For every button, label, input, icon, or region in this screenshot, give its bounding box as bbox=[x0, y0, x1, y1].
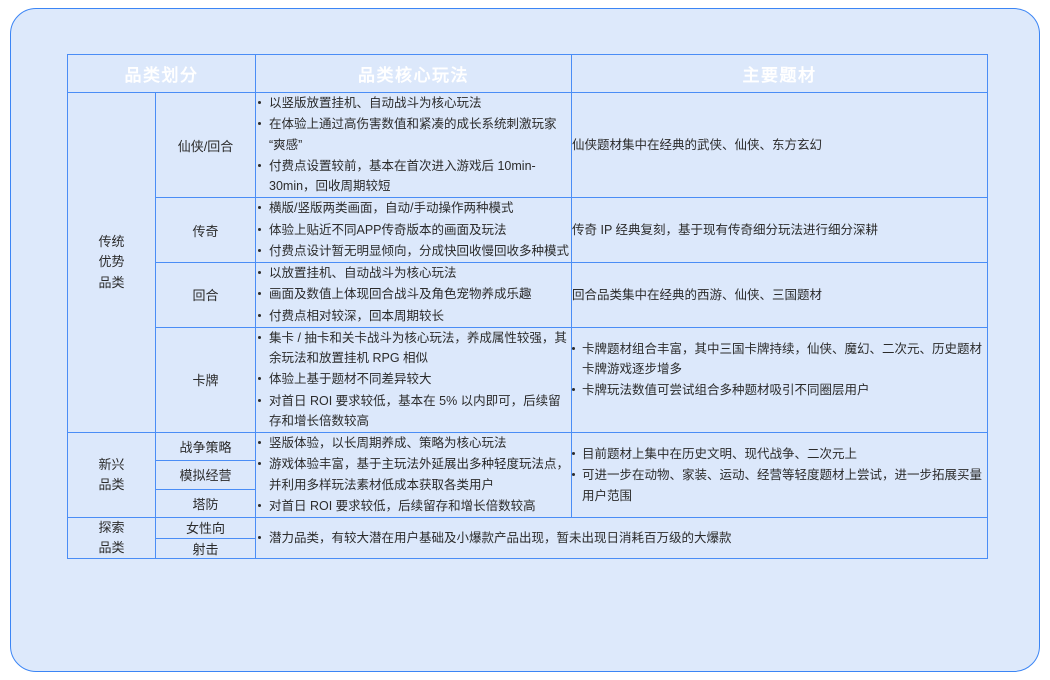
list-item: 卡牌题材组合丰富，其中三国卡牌持续，仙侠、魔幻、二次元、历史题材卡牌游戏逐步增多 bbox=[572, 339, 987, 380]
gameplay-bullet-list: 以竖版放置挂机、自动战斗为核心玩法 在体验上通过高伤害数值和紧凑的成长系统刺激玩… bbox=[256, 93, 571, 196]
list-item: 横版/竖版两类画面，自动/手动操作两种模式 bbox=[256, 198, 571, 218]
list-item: 以竖版放置挂机、自动战斗为核心玩法 bbox=[256, 93, 571, 113]
theme-text: 回合品类集中在经典的西游、仙侠、三国题材 bbox=[572, 285, 987, 305]
list-item: 目前题材上集中在历史文明、现代战争、二次元上 bbox=[572, 444, 987, 464]
page-frame: 品类划分 品类核心玩法 主要题材 传统 优势 品类 仙侠/回合 bbox=[10, 8, 1040, 672]
gameplay-cell-xianxia-huihe: 以竖版放置挂机、自动战斗为核心玩法 在体验上通过高伤害数值和紧凑的成长系统刺激玩… bbox=[256, 93, 572, 198]
table-row: 新兴 品类 战争策略 竖版体验，以长周期养成、策略为核心玩法 游戏体验丰富，基于… bbox=[68, 433, 988, 461]
group-label-exploration: 探索 品类 bbox=[68, 518, 156, 559]
sub-category-huihe: 回合 bbox=[156, 263, 256, 328]
combined-bullet-list: 潜力品类，有较大潜在用户基础及小爆款产品出现，暂未出现日消耗百万级的大爆款 bbox=[256, 528, 987, 548]
gameplay-bullet-list: 横版/竖版两类画面，自动/手动操作两种模式 体验上贴近不同APP传奇版本的画面及… bbox=[256, 198, 571, 261]
table-row: 回合 以放置挂机、自动战斗为核心玩法 画面及数值上体现回合战斗及角色宠物养成乐趣… bbox=[68, 263, 988, 328]
gameplay-bullet-list: 集卡 / 抽卡和关卡战斗为核心玩法，养成属性较强，其余玩法和放置挂机 RPG 相… bbox=[256, 328, 571, 431]
sub-category-xianxia-huihe: 仙侠/回合 bbox=[156, 93, 256, 198]
sub-category-tower-defense: 塔防 bbox=[156, 489, 256, 517]
group-label-line: 品类 bbox=[68, 273, 155, 293]
table-row: 卡牌 集卡 / 抽卡和关卡战斗为核心玩法，养成属性较强，其余玩法和放置挂机 RP… bbox=[68, 327, 988, 432]
group-label-line: 传统 bbox=[68, 232, 155, 252]
table-row: 传统 优势 品类 仙侠/回合 以竖版放置挂机、自动战斗为核心玩法 在体验上通过高… bbox=[68, 93, 988, 198]
theme-text: 传奇 IP 经典复刻，基于现有传奇细分玩法进行细分深耕 bbox=[572, 220, 987, 240]
list-item: 体验上贴近不同APP传奇版本的画面及玩法 bbox=[256, 220, 571, 240]
sub-category-chuanqi: 传奇 bbox=[156, 198, 256, 263]
category-matrix-table-wrapper: 品类划分 品类核心玩法 主要题材 传统 优势 品类 仙侠/回合 bbox=[67, 54, 987, 639]
list-item: 竖版体验，以长周期养成、策略为核心玩法 bbox=[256, 433, 571, 453]
group-label-line: 探索 bbox=[68, 518, 155, 538]
header-category-split: 品类划分 bbox=[68, 55, 256, 93]
list-item: 集卡 / 抽卡和关卡战斗为核心玩法，养成属性较强，其余玩法和放置挂机 RPG 相… bbox=[256, 328, 571, 369]
theme-cell-chuanqi: 传奇 IP 经典复刻，基于现有传奇细分玩法进行细分深耕 bbox=[572, 198, 988, 263]
list-item: 以放置挂机、自动战斗为核心玩法 bbox=[256, 263, 571, 283]
sub-category-female-oriented: 女性向 bbox=[156, 518, 256, 539]
list-item: 卡牌玩法数值可尝试组合多种题材吸引不同圈层用户 bbox=[572, 380, 987, 400]
sub-category-simulation: 模拟经营 bbox=[156, 461, 256, 489]
table-header: 品类划分 品类核心玩法 主要题材 bbox=[68, 55, 988, 93]
sub-category-war-strategy: 战争策略 bbox=[156, 433, 256, 461]
header-main-theme: 主要题材 bbox=[572, 55, 988, 93]
category-matrix-table: 品类划分 品类核心玩法 主要题材 传统 优势 品类 仙侠/回合 bbox=[67, 54, 988, 559]
theme-text: 仙侠题材集中在经典的武侠、仙侠、东方玄幻 bbox=[572, 135, 987, 155]
group-label-line: 新兴 bbox=[68, 455, 155, 475]
gameplay-cell-kapai: 集卡 / 抽卡和关卡战斗为核心玩法，养成属性较强，其余玩法和放置挂机 RPG 相… bbox=[256, 327, 572, 432]
theme-bullet-list: 目前题材上集中在历史文明、现代战争、二次元上 可进一步在动物、家装、运动、经营等… bbox=[572, 444, 987, 506]
gameplay-cell-huihe: 以放置挂机、自动战斗为核心玩法 画面及数值上体现回合战斗及角色宠物养成乐趣 付费… bbox=[256, 263, 572, 328]
table-row: 探索 品类 女性向 潜力品类，有较大潜在用户基础及小爆款产品出现，暂未出现日消耗… bbox=[68, 518, 988, 539]
gameplay-bullet-list: 竖版体验，以长周期养成、策略为核心玩法 游戏体验丰富，基于主玩法外延展出多种轻度… bbox=[256, 433, 571, 516]
list-item: 付费点设置较前，基本在首次进入游戏后 10min-30min，回收周期较短 bbox=[256, 156, 571, 197]
list-item: 游戏体验丰富，基于主玩法外延展出多种轻度玩法点，并利用多样玩法素材低成本获取各类… bbox=[256, 454, 571, 495]
theme-bullet-list: 卡牌题材组合丰富，其中三国卡牌持续，仙侠、魔幻、二次元、历史题材卡牌游戏逐步增多… bbox=[572, 339, 987, 401]
list-item: 对首日 ROI 要求较低，基本在 5% 以内即可，后续留存和增长倍数较高 bbox=[256, 391, 571, 432]
table-row: 传奇 横版/竖版两类画面，自动/手动操作两种模式 体验上贴近不同APP传奇版本的… bbox=[68, 198, 988, 263]
sub-category-shooting: 射击 bbox=[156, 538, 256, 559]
header-core-gameplay: 品类核心玩法 bbox=[256, 55, 572, 93]
list-item: 付费点相对较深，回本周期较长 bbox=[256, 306, 571, 326]
list-item: 对首日 ROI 要求较低，后续留存和增长倍数较高 bbox=[256, 496, 571, 516]
table-header-row: 品类划分 品类核心玩法 主要题材 bbox=[68, 55, 988, 93]
list-item: 付费点设计暂无明显倾向，分成快回收慢回收多种模式 bbox=[256, 241, 571, 261]
list-item: 画面及数值上体现回合战斗及角色宠物养成乐趣 bbox=[256, 284, 571, 304]
group-label-traditional: 传统 优势 品类 bbox=[68, 93, 156, 433]
list-item: 可进一步在动物、家装、运动、经营等轻度题材上尝试，进一步拓展买量用户范围 bbox=[572, 465, 987, 506]
group-label-line: 品类 bbox=[68, 538, 155, 558]
gameplay-cell-chuanqi: 横版/竖版两类画面，自动/手动操作两种模式 体验上贴近不同APP传奇版本的画面及… bbox=[256, 198, 572, 263]
group-label-line: 品类 bbox=[68, 475, 155, 495]
theme-cell-kapai: 卡牌题材组合丰富，其中三国卡牌持续，仙侠、魔幻、二次元、历史题材卡牌游戏逐步增多… bbox=[572, 327, 988, 432]
gameplay-cell-emerging: 竖版体验，以长周期养成、策略为核心玩法 游戏体验丰富，基于主玩法外延展出多种轻度… bbox=[256, 433, 572, 518]
list-item: 体验上基于题材不同差异较大 bbox=[256, 369, 571, 389]
group-label-line: 优势 bbox=[68, 252, 155, 272]
theme-cell-huihe: 回合品类集中在经典的西游、仙侠、三国题材 bbox=[572, 263, 988, 328]
group-label-emerging: 新兴 品类 bbox=[68, 433, 156, 518]
combined-cell-exploration: 潜力品类，有较大潜在用户基础及小爆款产品出现，暂未出现日消耗百万级的大爆款 bbox=[256, 518, 988, 559]
sub-category-kapai: 卡牌 bbox=[156, 327, 256, 432]
theme-cell-emerging: 目前题材上集中在历史文明、现代战争、二次元上 可进一步在动物、家装、运动、经营等… bbox=[572, 433, 988, 518]
list-item: 潜力品类，有较大潜在用户基础及小爆款产品出现，暂未出现日消耗百万级的大爆款 bbox=[256, 528, 987, 548]
list-item: 在体验上通过高伤害数值和紧凑的成长系统刺激玩家“爽感” bbox=[256, 114, 571, 155]
theme-cell-xianxia-huihe: 仙侠题材集中在经典的武侠、仙侠、东方玄幻 bbox=[572, 93, 988, 198]
gameplay-bullet-list: 以放置挂机、自动战斗为核心玩法 画面及数值上体现回合战斗及角色宠物养成乐趣 付费… bbox=[256, 263, 571, 326]
table-body: 传统 优势 品类 仙侠/回合 以竖版放置挂机、自动战斗为核心玩法 在体验上通过高… bbox=[68, 93, 988, 559]
